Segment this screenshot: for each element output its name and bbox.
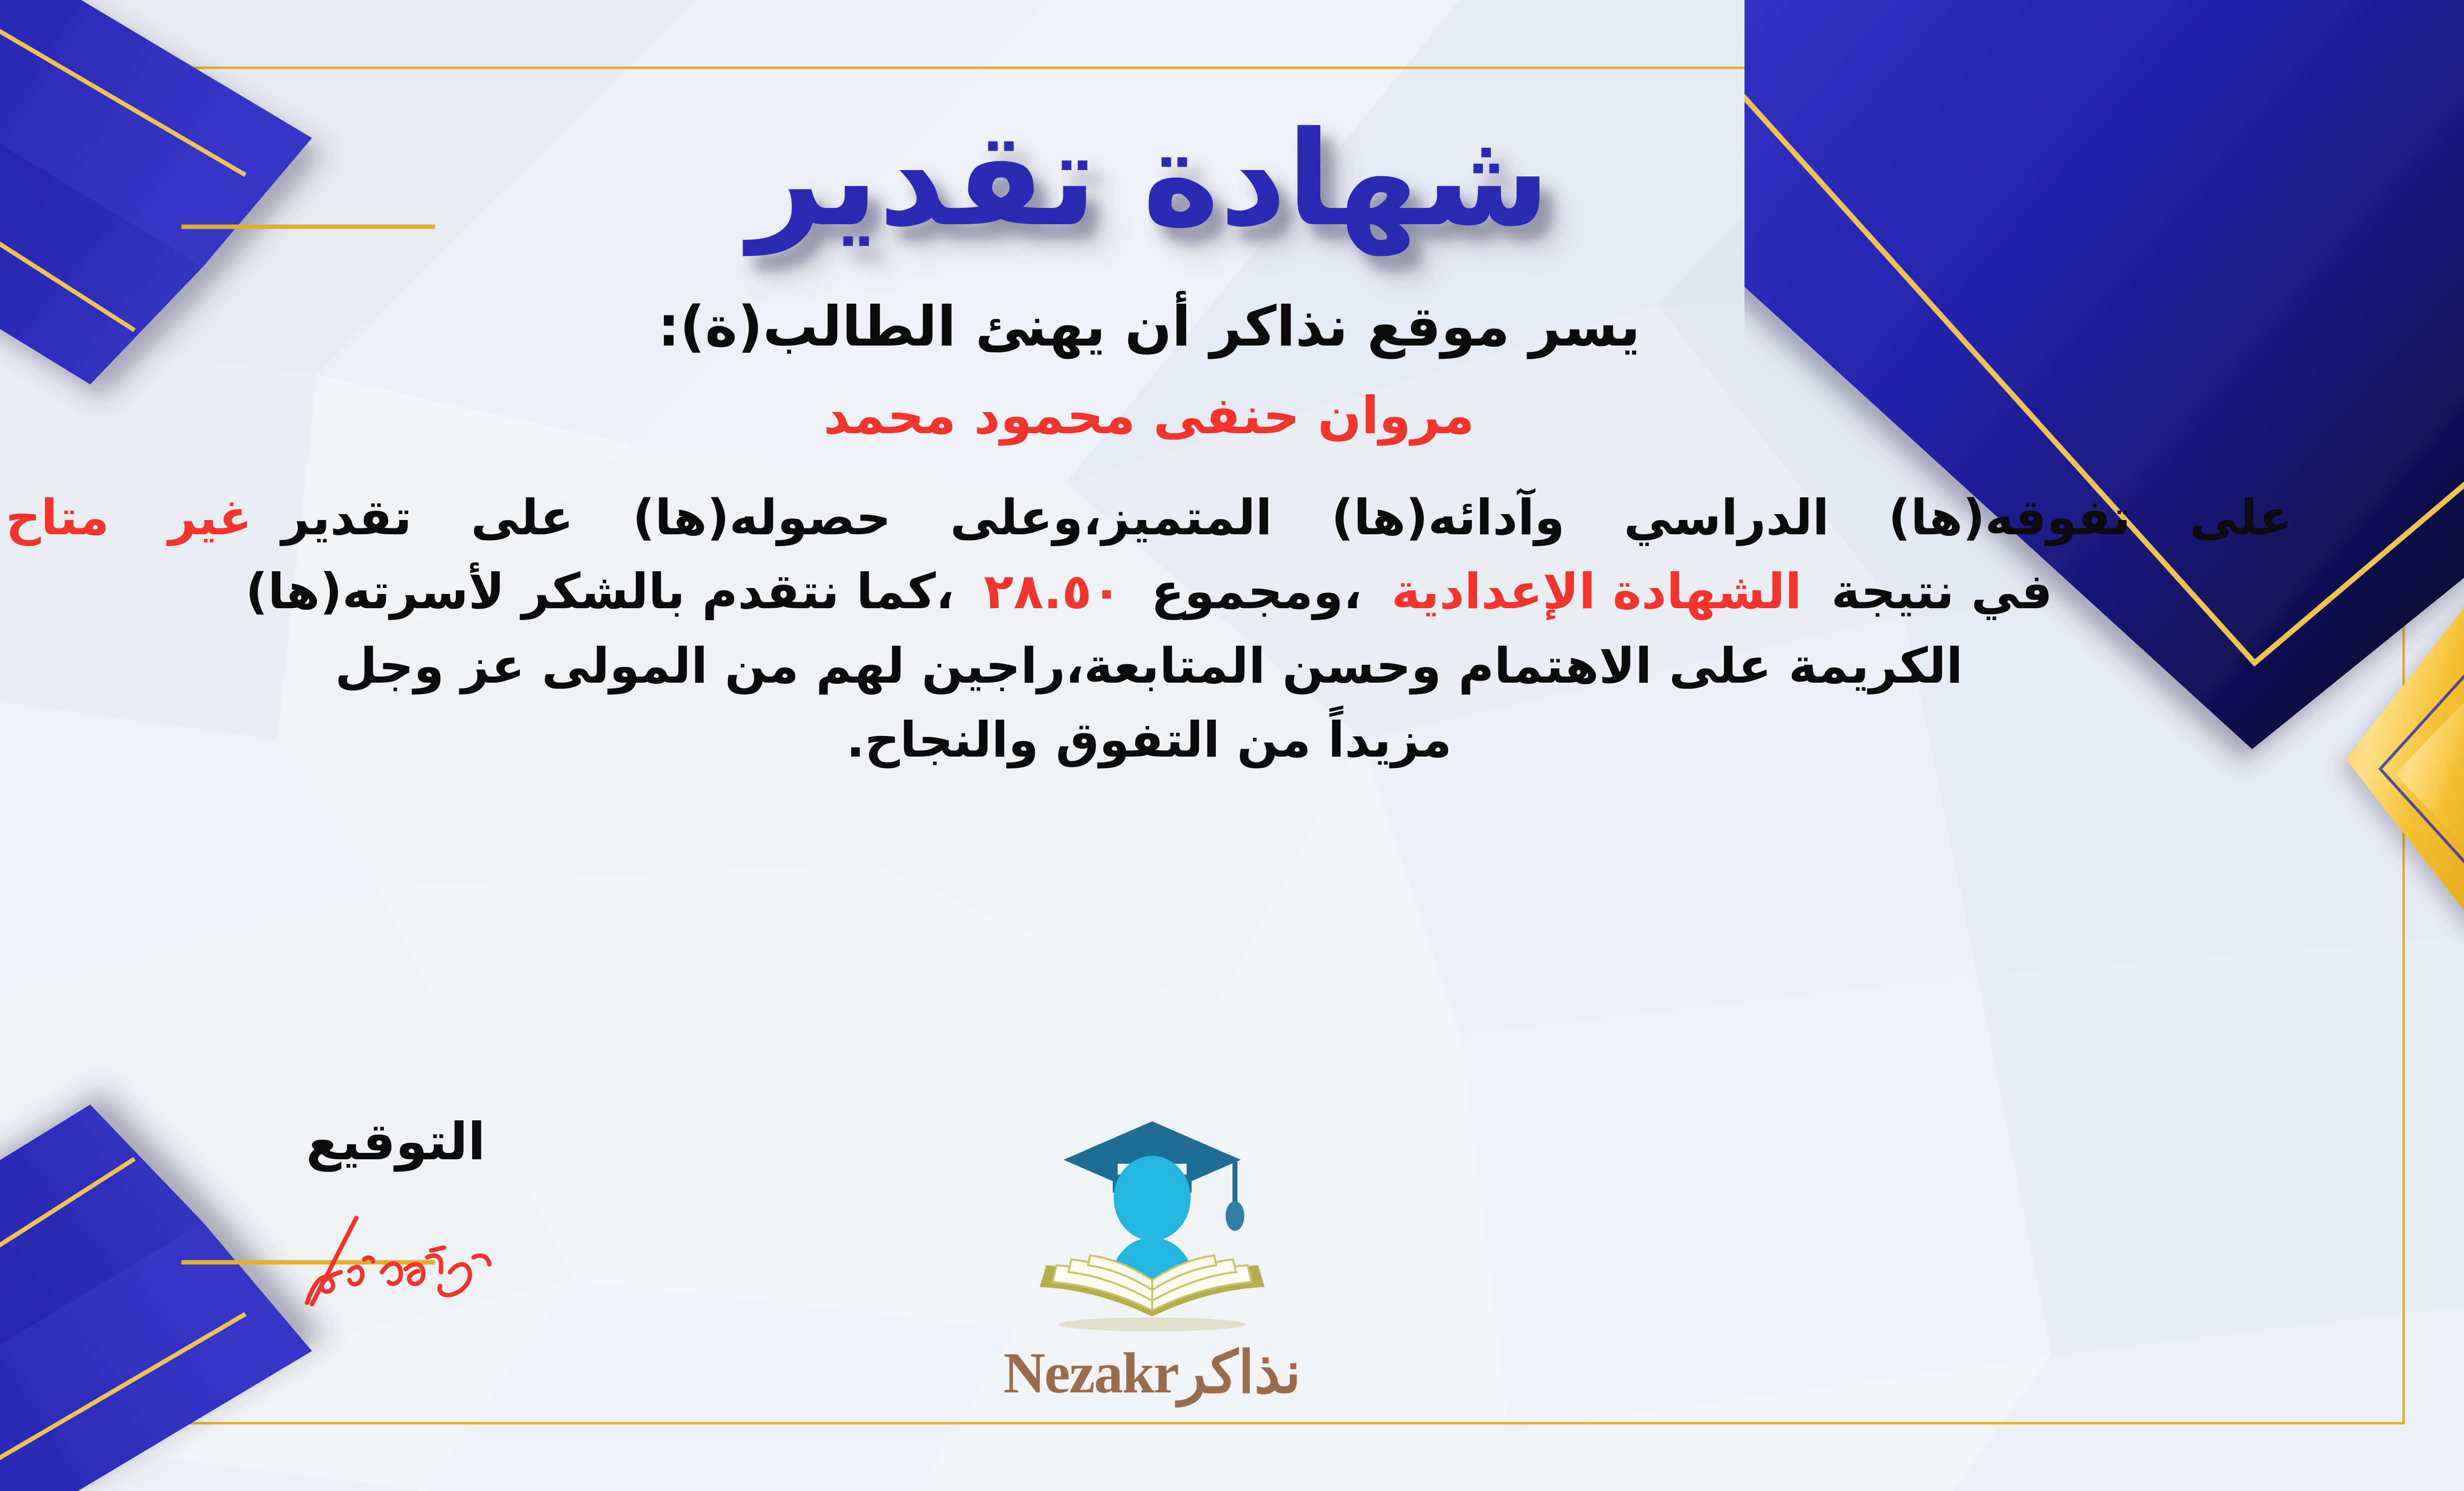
certificate-title: شهادة تقدير: [0, 74, 2464, 286]
student-name: مروان حنفى محمود محمد: [823, 385, 1474, 446]
logo-wordmark-arabic: نذاكر: [1178, 1341, 1301, 1405]
body-line-1-text: على تفوقه(ها) الدراسي وآدائه(ها) المتميز…: [281, 489, 2292, 546]
logo-wordmark: نذاكرNezakr: [1003, 1338, 1301, 1407]
body-line-1: على تفوقه(ها) الدراسي وآدائه(ها) المتميز…: [6, 481, 2293, 555]
student-head-icon: [1114, 1156, 1191, 1241]
certificate-body-paragraph: على تفوقه(ها) الدراسي وآدائه(ها) المتميز…: [6, 481, 2293, 778]
graduation-cap-book-icon: [965, 1102, 1339, 1343]
exam-name: الشهادة الإعدادية: [1392, 563, 1802, 620]
certificate-footer: التوقيع: [0, 1102, 2464, 1417]
body-line-3: الكريمة على الاهتمام وحسن المتابعة،راجين…: [6, 629, 2293, 703]
greeting-line: يسر موقع نذاكر أن يهنئ الطالب(ة):: [658, 295, 1641, 359]
certificate-page: شهادة تقدير يسر موقع نذاكر أن يهنئ الطال…: [0, 0, 2464, 1491]
signature-area: التوقيع: [174, 1111, 617, 1312]
logo-wordmark-latin: Nezakr: [1003, 1341, 1178, 1405]
body-line-2-prefix: في نتيجة: [1831, 563, 2053, 620]
signature-mark: [174, 1198, 617, 1312]
handwritten-signature-icon: [258, 1198, 534, 1312]
body-line-2: في نتيجةالشهادة الإعدادية،ومجموع٢٨.٥٠،كم…: [6, 555, 2293, 629]
certificate-title-text: شهادة تقدير: [742, 104, 1550, 257]
body-line-2-suffix: ،كما نتقدم بالشكر لأسرته(ها): [245, 563, 954, 620]
body-line-2-middle: ،ومجموع: [1151, 563, 1362, 620]
grade-value: غير متاح: [6, 489, 252, 546]
certificate-content: شهادة تقدير يسر موقع نذاكر أن يهنئ الطال…: [0, 0, 2464, 1491]
brand-logo: نذاكرNezakr: [923, 1102, 1381, 1407]
total-score: ٢٨.٥٠: [984, 563, 1121, 620]
certificate-title-calligraphy: شهادة تقدير: [644, 76, 1654, 283]
signature-label: التوقيع: [174, 1111, 617, 1172]
body-line-4: مزيداً من التفوق والنجاح.: [6, 703, 2293, 777]
